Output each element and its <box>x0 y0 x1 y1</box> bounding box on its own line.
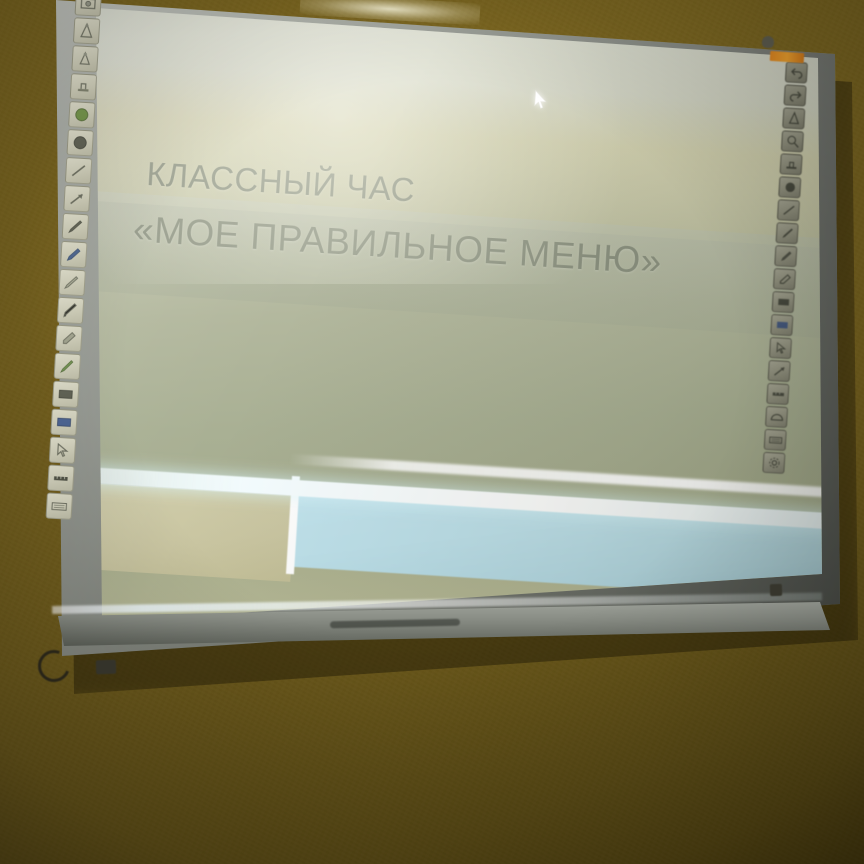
tool-rectangle-dark-icon[interactable] <box>52 381 79 408</box>
interactive-whiteboard[interactable]: КЛАССНЫЙ ЧАС «МОЕ ПРАВИЛЬНОЕ МЕНЮ» <box>0 0 864 684</box>
tool-stamp-icon[interactable] <box>70 73 97 100</box>
wall-mount-right <box>770 584 782 596</box>
tool-screenshot-capture-icon[interactable] <box>75 0 102 17</box>
tool-keyboard-icon[interactable] <box>764 429 787 451</box>
tool-pen-icon[interactable] <box>776 222 799 244</box>
tool-shape-dark-circle-icon[interactable] <box>66 129 93 156</box>
tool-shape-icon[interactable] <box>778 176 801 198</box>
tool-settings-icon[interactable] <box>762 452 785 474</box>
tool-magnifier-icon[interactable] <box>781 130 804 152</box>
tool-marker-blue-icon[interactable] <box>60 241 87 268</box>
tool-ruler-icon[interactable] <box>47 464 74 491</box>
tool-keyboard-icon[interactable] <box>46 492 73 519</box>
tool-pen-black-icon[interactable] <box>62 213 89 240</box>
tool-highlighter-icon[interactable] <box>58 269 85 296</box>
tool-spotlight-icon[interactable] <box>73 17 100 44</box>
tool-marker-icon[interactable] <box>774 245 797 267</box>
tool-arrow-tool-icon[interactable] <box>63 185 90 212</box>
bezel-mount-knob <box>761 35 774 48</box>
tool-ruler-icon[interactable] <box>766 383 789 405</box>
tool-undo-icon[interactable] <box>785 61 808 83</box>
tool-redo-icon[interactable] <box>783 84 806 106</box>
tool-rectangle-blue-fill-icon[interactable] <box>50 409 77 436</box>
tool-calligraphy-pen-icon[interactable] <box>57 297 84 324</box>
tool-stamp-icon[interactable] <box>780 153 803 175</box>
mouse-cursor-icon <box>533 90 548 111</box>
tool-eraser-icon[interactable] <box>55 325 82 352</box>
tool-magnifier-icon[interactable] <box>71 45 98 72</box>
tool-rectangle-icon[interactable] <box>772 291 795 313</box>
tool-eraser-icon[interactable] <box>773 268 796 290</box>
tool-select-pointer-icon[interactable] <box>769 337 792 359</box>
tool-arrow-tool-icon[interactable] <box>768 360 791 382</box>
tool-line-tool-icon[interactable] <box>65 157 92 184</box>
wall-mount-left <box>96 660 116 675</box>
tool-select-pointer-icon[interactable] <box>49 437 76 464</box>
tool-green-pen-icon[interactable] <box>54 353 81 380</box>
tool-spotlight-icon[interactable] <box>782 107 805 129</box>
tool-protractor-icon[interactable] <box>765 406 788 428</box>
tool-line-tool-icon[interactable] <box>777 199 800 221</box>
room-photo-scene: КЛАССНЫЙ ЧАС «МОЕ ПРАВИЛЬНОЕ МЕНЮ» <box>0 0 864 864</box>
tool-shape-green-circle-icon[interactable] <box>68 101 95 128</box>
projection-screen[interactable]: КЛАССНЫЙ ЧАС «МОЕ ПРАВИЛЬНОЕ МЕНЮ» <box>40 0 850 664</box>
tool-fill-icon[interactable] <box>770 314 793 336</box>
